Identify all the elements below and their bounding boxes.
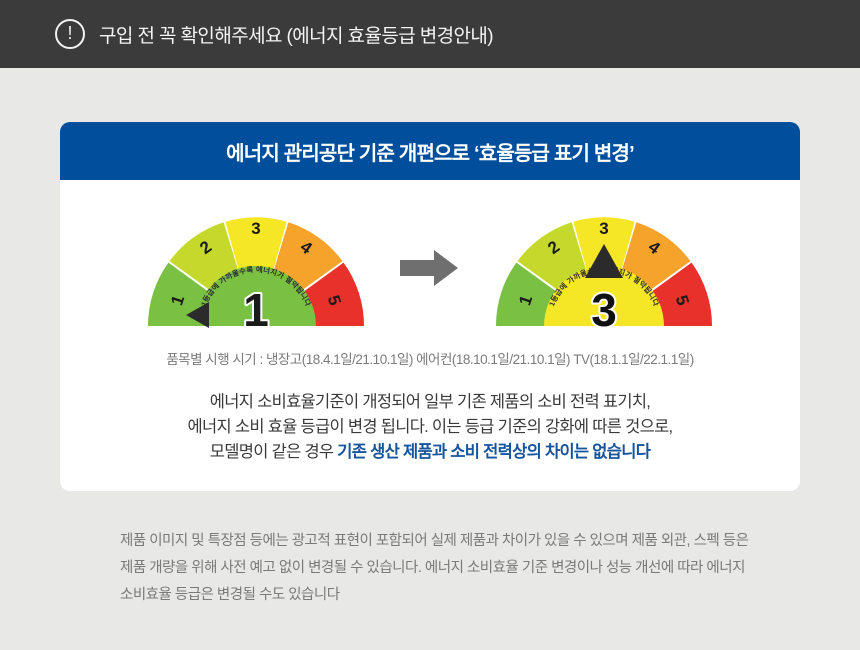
card-banner-title: 에너지 관리공단 기준 개편으로 ‘효율등급 표기 변경’ [226,137,634,166]
card-banner: 에너지 관리공단 기준 개편으로 ‘효율등급 표기 변경’ [60,122,800,180]
gauge-comparison: 1 2 3 4 5 1등급에 가까울수록 에너지가 절약됩니다 [60,180,800,334]
disclaimer-text: 제품 이미지 및 특장점 등에는 광고적 표현이 포함되어 실제 제품과 차이가… [120,528,800,609]
exclamation-circle-icon: ! [55,19,85,49]
exclamation-glyph: ! [67,24,72,42]
paragraph-line-1: 에너지 소비효율기준이 개정되어 일부 기존 제품의 소비 전력 표기치, [60,390,800,415]
paragraph-line-3: 모델명이 같은 경우 기존 생산 제품과 소비 전력상의 차이는 없습니다 [60,440,800,465]
disclaimer-line-1: 제품 이미지 및 특장점 등에는 광고적 표현이 포함되어 실제 제품과 차이가… [120,528,800,555]
segment-label-3: 3 [251,219,260,238]
before-gauge: 1 2 3 4 5 1등급에 가까울수록 에너지가 절약됩니다 [136,202,376,334]
notice-card: 에너지 관리공단 기준 개편으로 ‘효율등급 표기 변경’ [60,122,800,491]
paragraph-line-3-prefix: 모델명이 같은 경우 [210,443,338,461]
paragraph-line-2: 에너지 소비 효율 등급이 변경 됩니다. 이는 등급 기준의 강화에 따른 것… [60,415,800,440]
page-header: ! 구입 전 꼭 확인해주세요 (에너지 효율등급 변경안내) [0,0,860,68]
paragraph-line-3-highlight: 기존 생산 제품과 소비 전력상의 차이는 없습니다 [337,443,650,461]
after-gauge-grade: 3 [591,284,617,334]
after-gauge: 1 2 3 4 5 1등급에 가까울수록 에너지가 절약됩니다 3 [484,202,724,334]
schedule-line: 품목별 시행 시기 : 냉장고(18.4.1일/21.10.1일) 에어컨(18… [60,348,800,368]
disclaimer-line-2: 제품 개량을 위해 사전 예고 없이 변경될 수 있습니다. 에너지 소비효율 … [120,555,800,582]
notice-paragraph: 에너지 소비효율기준이 개정되어 일부 기존 제품의 소비 전력 표기치, 에너… [60,390,800,465]
before-gauge-grade: 1 [243,284,269,334]
page-title: 구입 전 꼭 확인해주세요 (에너지 효율등급 변경안내) [99,21,493,48]
card-body: 1 2 3 4 5 1등급에 가까울수록 에너지가 절약됩니다 [60,180,800,491]
disclaimer-line-3: 소비효율 등급은 변경될 수도 있습니다 [120,582,800,609]
right-arrow-icon [398,245,462,291]
segment-label-3: 3 [599,219,608,238]
